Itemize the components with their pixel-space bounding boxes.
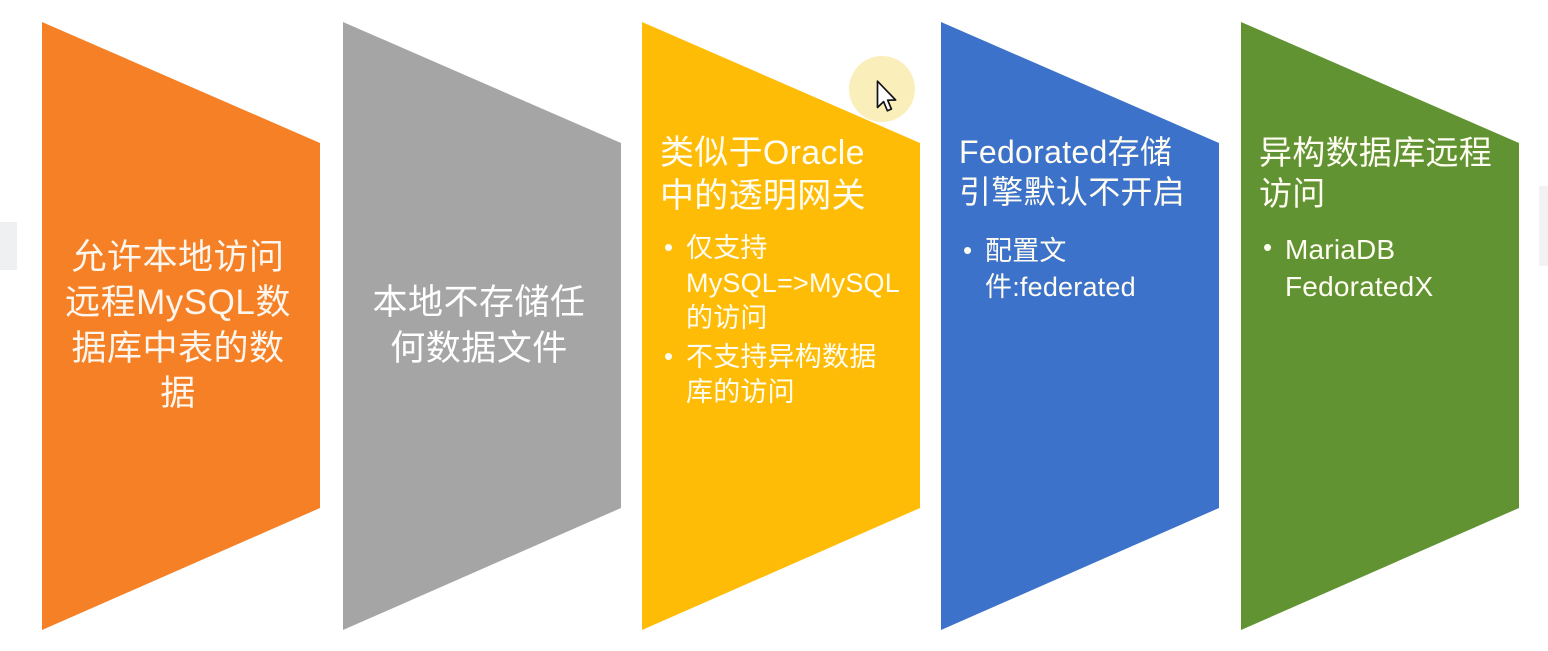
chevron-block-2[interactable]: 本地不存储任何数据文件 xyxy=(343,0,643,651)
list-item: 不支持异构数据库的访问 xyxy=(686,340,896,410)
chevron-bullet-list-3: 仅支持MySQL=>MySQL的访问 不支持异构数据库的访问 xyxy=(660,231,896,414)
chevron-content-4: Fedorated存储引擎默认不开启 配置文件:federated xyxy=(959,0,1203,651)
left-edge-artifact xyxy=(0,222,17,270)
chevron-text-1: 允许本地访问远程MySQL数据库中表的数据 xyxy=(60,235,296,416)
chevron-content-5: 异构数据库远程访问 MariaDB FedoratedX xyxy=(1259,0,1503,651)
chevron-block-1[interactable]: 允许本地访问远程MySQL数据库中表的数据 xyxy=(42,0,342,651)
mouse-arrow-cursor-icon xyxy=(876,80,898,114)
list-item: MariaDB FedoratedX xyxy=(1285,231,1495,305)
chevron-content-2: 本地不存储任何数据文件 xyxy=(361,0,605,651)
chevron-heading-5: 异构数据库远程访问 xyxy=(1259,132,1495,215)
chevron-block-4[interactable]: Fedorated存储引擎默认不开启 配置文件:federated xyxy=(941,0,1241,651)
slide-canvas: 允许本地访问远程MySQL数据库中表的数据 本地不存储任何数据文件 类似于Ora… xyxy=(0,0,1548,651)
chevron-block-5[interactable]: 异构数据库远程访问 MariaDB FedoratedX xyxy=(1241,0,1541,651)
chevron-bullet-list-5: MariaDB FedoratedX xyxy=(1259,231,1495,309)
chevron-bullet-list-4: 配置文件:federated xyxy=(959,234,1195,310)
chevron-heading-3: 类似于Oracle中的透明网关 xyxy=(660,132,896,217)
list-item: 仅支持MySQL=>MySQL的访问 xyxy=(686,231,896,336)
chevron-content-1: 允许本地访问远程MySQL数据库中表的数据 xyxy=(60,0,304,651)
chevron-heading-4: Fedorated存储引擎默认不开启 xyxy=(959,132,1195,212)
list-item: 配置文件:federated xyxy=(985,234,1195,306)
chevron-text-2: 本地不存储任何数据文件 xyxy=(361,280,597,370)
